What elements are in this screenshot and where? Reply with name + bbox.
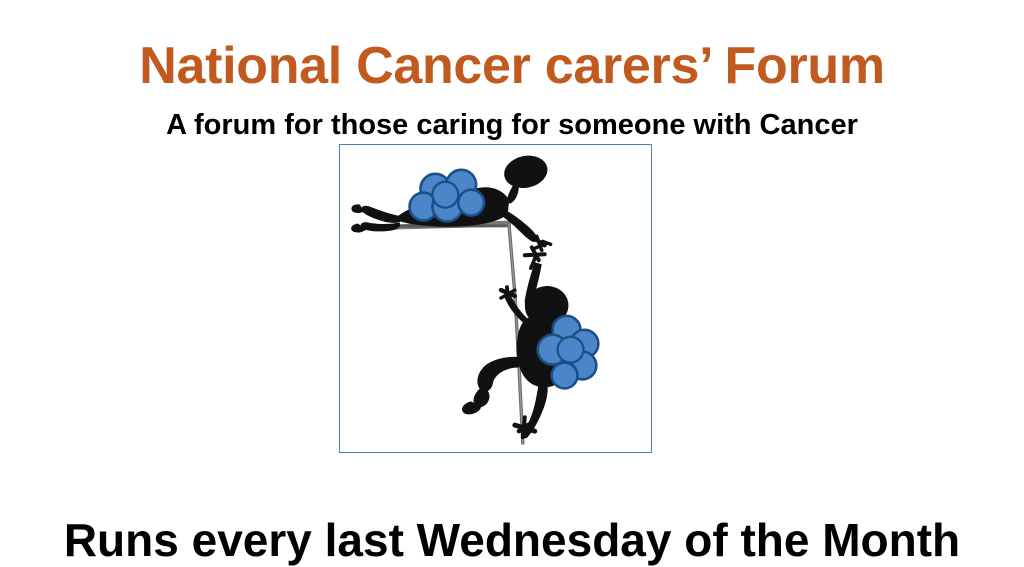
slide-canvas: National Cancer carers’ Forum A forum fo… — [0, 0, 1024, 536]
page-subtitle: A forum for those caring for someone wit… — [0, 110, 1024, 142]
footer-heading: Runs every last Wednesday of the Month — [0, 515, 1024, 567]
two-climbers-rescue-illustration — [340, 145, 651, 452]
page-title: National Cancer carers’ Forum — [0, 39, 1024, 94]
illustration-frame — [339, 144, 652, 453]
